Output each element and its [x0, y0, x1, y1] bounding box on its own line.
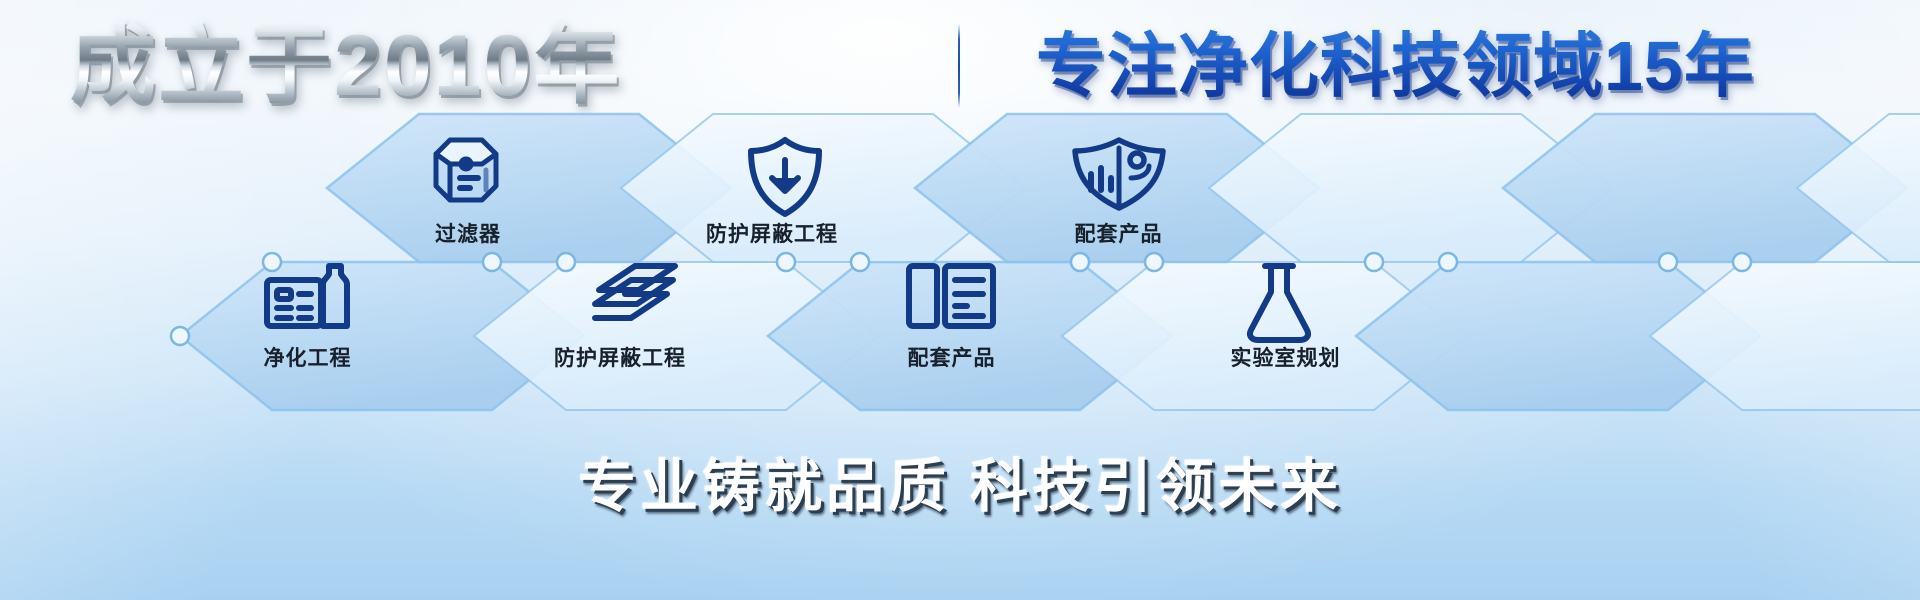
promo-banner: 成立于2010年 成立于2010年 专注净化科技领域15年	[0, 0, 1920, 600]
honeycomb-vertex-node	[483, 253, 501, 271]
honeycomb-vertex-node	[777, 253, 795, 271]
banner-slogan: 专业铸就品质 科技引领未来	[0, 432, 1920, 542]
honeycomb-vertex-node	[851, 253, 869, 271]
banner-header: 成立于2010年 成立于2010年 专注净化科技领域15年	[0, 0, 1920, 126]
headline-left: 成立于2010年	[70, 16, 870, 116]
honeycomb-vertex-node	[1733, 253, 1751, 271]
headline-right: 专注净化科技领域15年	[1036, 18, 1755, 114]
honeycomb-vertex-node	[1071, 253, 1089, 271]
honeycomb-cell-label-shielding-bot[interactable]: 防护屏蔽工程	[525, 342, 715, 372]
honeycomb-vertex-node	[171, 327, 189, 345]
honeycomb-cell-label-purification[interactable]: 净化工程	[230, 342, 385, 372]
honeycomb-vertex-node	[557, 253, 575, 271]
honeycomb-cell-label-shielding-top[interactable]: 防护屏蔽工程	[677, 218, 867, 248]
honeycomb-cell-label-products-top[interactable]: 配套产品	[1041, 218, 1196, 248]
honeycomb-cell-label-products-bot[interactable]: 配套产品	[874, 342, 1029, 372]
honeycomb-vertex-node	[1145, 253, 1163, 271]
honeycomb-diagram: 过滤器 防护屏蔽工程 配套产品 净化工程 防护屏蔽工程	[0, 112, 1920, 442]
headline-divider	[958, 24, 960, 108]
honeycomb-vertex-node	[1365, 253, 1383, 271]
honeycomb-vertex-node	[1439, 253, 1457, 271]
honeycomb-cell-label-filter[interactable]: 过滤器	[403, 218, 533, 248]
honeycomb-cell-label-lab-planning[interactable]: 实验室规划	[1198, 342, 1373, 372]
honeycomb-vertex-node	[1659, 253, 1677, 271]
